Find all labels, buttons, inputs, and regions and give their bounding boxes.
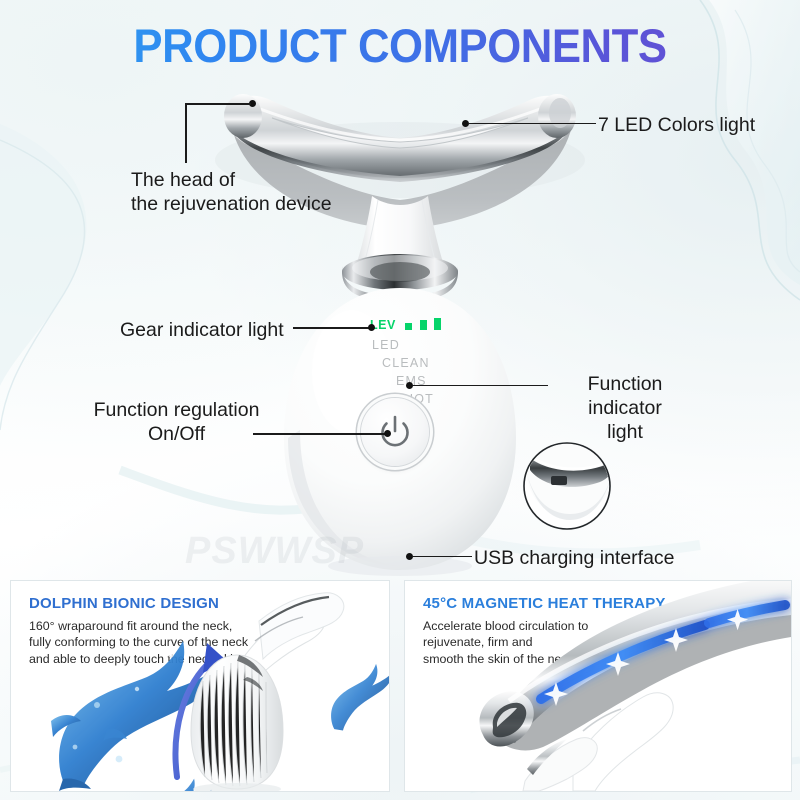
usb-magnifier-callout (524, 430, 618, 529)
callout-head-of-device: The head of the rejuvenation device (131, 168, 332, 216)
panel-dolphin-graphic (11, 581, 389, 791)
callout-function-regulation: Function regulation On/Off (89, 398, 264, 446)
leader-line-usb (412, 556, 472, 558)
infographic-page: PRODUCT COMPONENTS (0, 0, 800, 800)
leader-line-head-v (185, 103, 187, 163)
leader-dot-gear (368, 324, 375, 331)
leader-line-gear (293, 327, 371, 329)
device-screen: LEV LED CLEAN EMS HOT (370, 318, 510, 332)
panel-magnetic-heat-therapy: 45°C MAGNETIC HEAT THERAPY Accelerate bl… (404, 580, 792, 792)
leader-line-regulation (253, 433, 387, 435)
power-button[interactable] (361, 398, 429, 466)
leader-line-head-h (185, 103, 251, 105)
function-label-led: LED (372, 338, 400, 352)
gear-level-row: LEV (370, 318, 510, 332)
function-label-clean: CLEAN (382, 356, 430, 370)
callout-led-colors: 7 LED Colors light (598, 113, 755, 137)
panel-heat-graphic (405, 581, 791, 791)
leader-line-led (468, 123, 596, 125)
callout-gear-indicator-light: Gear indicator light (120, 318, 284, 342)
level-bar-1 (405, 323, 412, 330)
callout-function-indicator: Function indicator light (550, 372, 700, 444)
leader-line-function-light (412, 385, 548, 387)
panel-dolphin-bionic-design: DOLPHIN BIONIC DESIGN 160° wraparound fi… (10, 580, 390, 792)
callout-usb-interface: USB charging interface (474, 546, 675, 570)
level-bar-2 (420, 320, 427, 330)
page-title: PRODUCT COMPONENTS (28, 18, 772, 73)
leader-dot-regulation (384, 430, 391, 437)
level-bar-3 (434, 318, 441, 330)
watermark: PSWWSP (185, 530, 364, 573)
